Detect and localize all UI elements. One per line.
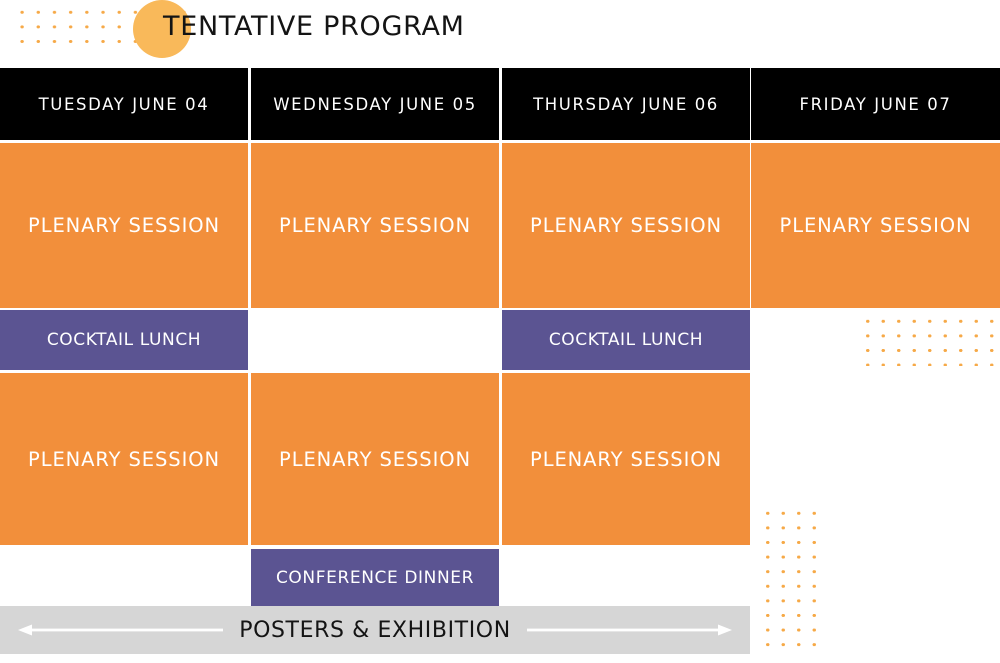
session-cell-plenary[interactable]: PLENARY SESSION: [251, 373, 499, 545]
posters-exhibition-banner[interactable]: POSTERS & EXHIBITION: [0, 606, 750, 654]
day-header-tuesday: TUESDAY JUNE 04: [0, 68, 248, 140]
session-cell-plenary[interactable]: PLENARY SESSION: [0, 143, 248, 308]
page-title: TENTATIVE PROGRAM: [163, 11, 465, 42]
session-cell-plenary[interactable]: PLENARY SESSION: [0, 373, 248, 545]
day-header-thursday: THURSDAY JUNE 06: [502, 68, 750, 140]
arrow-right-icon: [527, 623, 732, 637]
session-cell-plenary[interactable]: PLENARY SESSION: [502, 143, 750, 308]
program-page: TENTATIVE PROGRAM TUESDAY JUNE 04 PLENAR…: [0, 0, 1000, 663]
session-cell-plenary[interactable]: PLENARY SESSION: [751, 143, 1000, 308]
day-header-friday: FRIDAY JUNE 07: [751, 68, 1000, 140]
session-cell-plenary[interactable]: PLENARY SESSION: [502, 373, 750, 545]
posters-exhibition-label: POSTERS & EXHIBITION: [223, 618, 527, 643]
day-header-wednesday: WEDNESDAY JUNE 05: [251, 68, 499, 140]
break-cell-cocktail-lunch[interactable]: COCKTAIL LUNCH: [502, 310, 750, 370]
break-cell-conference-dinner[interactable]: CONFERENCE DINNER: [251, 549, 499, 606]
break-cell-cocktail-lunch[interactable]: COCKTAIL LUNCH: [0, 310, 248, 370]
arrow-left-icon: [18, 623, 223, 637]
session-cell-plenary[interactable]: PLENARY SESSION: [251, 143, 499, 308]
schedule-grid: TUESDAY JUNE 04 PLENARY SESSION COCKTAIL…: [0, 68, 1000, 606]
